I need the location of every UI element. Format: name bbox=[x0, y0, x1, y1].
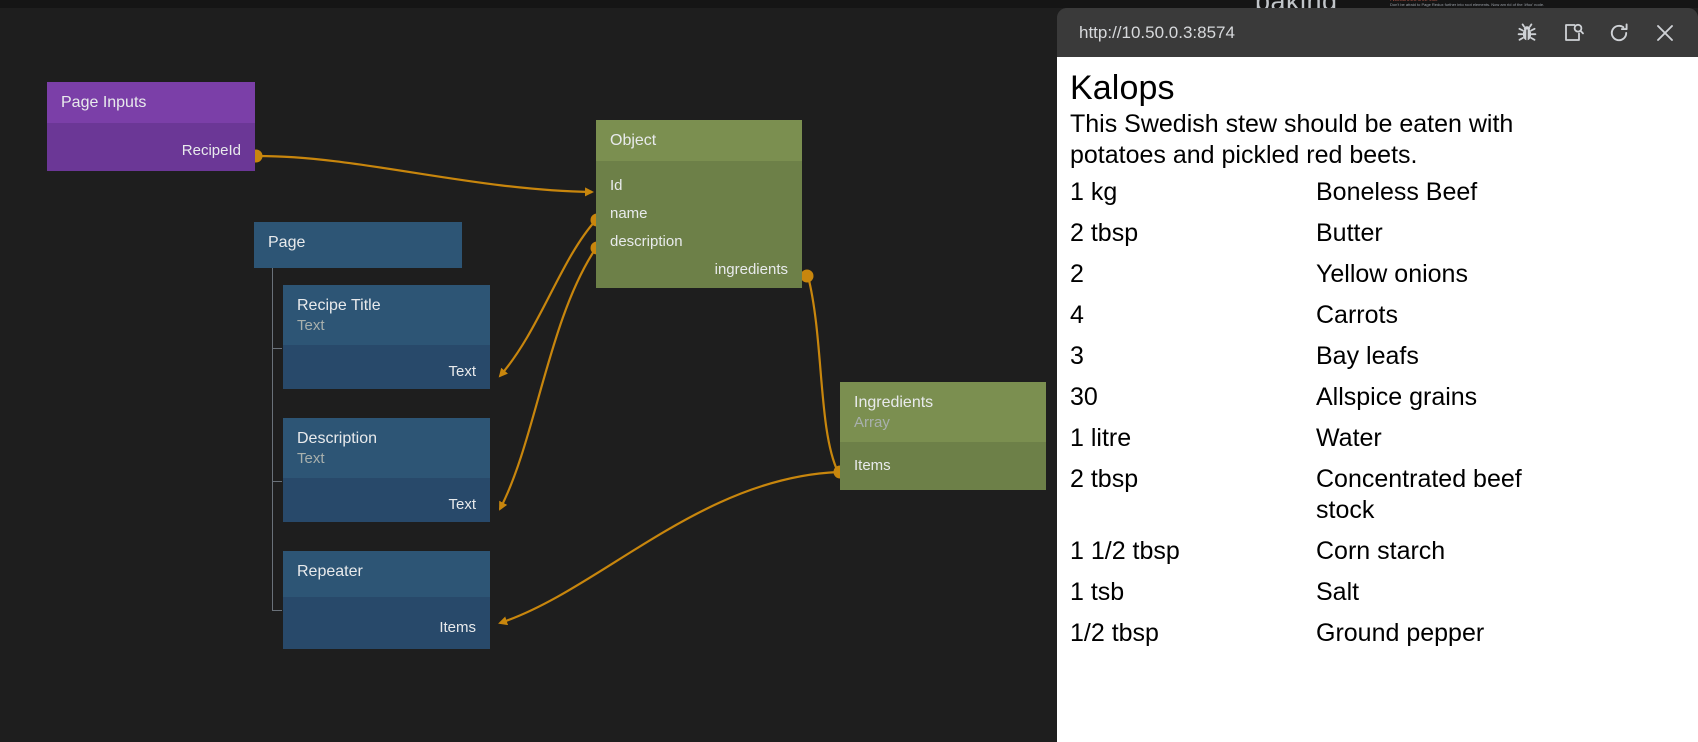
app-root: baking • Without a link to the '#foo' Do… bbox=[0, 0, 1698, 742]
url-display[interactable]: http://10.50.0.3:8574 bbox=[1079, 23, 1504, 43]
node-description[interactable]: Description Text Text bbox=[283, 418, 490, 522]
node-page-inputs-header: Page Inputs bbox=[47, 82, 255, 123]
tree-tick-repeater bbox=[272, 610, 282, 611]
node-ingredients-body: Items bbox=[840, 442, 1046, 490]
port-label: Items bbox=[854, 457, 891, 474]
node-page-inputs-body: RecipeId bbox=[47, 123, 255, 171]
node-subtitle: Text bbox=[297, 316, 476, 335]
inspect-button[interactable] bbox=[1550, 10, 1596, 56]
tree-spine bbox=[272, 268, 273, 610]
ingredient-name: Water bbox=[1316, 418, 1525, 459]
ingredient-quantity: 1 tsb bbox=[1070, 572, 1316, 613]
node-description-body: Text bbox=[283, 478, 490, 522]
node-title: Page bbox=[268, 234, 305, 251]
tree-tick-description bbox=[272, 481, 282, 482]
ingredient-name: Allspice grains bbox=[1316, 377, 1525, 418]
port-name[interactable]: name bbox=[596, 200, 802, 228]
page-search-icon bbox=[1561, 21, 1585, 45]
port-id[interactable]: Id bbox=[596, 172, 802, 200]
ingredient-quantity: 2 tbsp bbox=[1070, 459, 1316, 531]
table-row: 1 1/2 tbsp Corn starch bbox=[1070, 531, 1525, 572]
node-ingredients-header: Ingredients Array bbox=[840, 382, 1046, 442]
table-row: 1 tsb Salt bbox=[1070, 572, 1525, 613]
table-row: 4 Carrots bbox=[1070, 295, 1525, 336]
reload-button[interactable] bbox=[1596, 10, 1642, 56]
node-title: Ingredients bbox=[854, 394, 933, 411]
ingredient-name: Salt bbox=[1316, 572, 1525, 613]
table-row: 2 tbsp Concentrated beef stock bbox=[1070, 459, 1525, 531]
ingredient-quantity: 4 bbox=[1070, 295, 1316, 336]
node-repeater-body: Items bbox=[283, 597, 490, 649]
port-items-repeater[interactable]: Items bbox=[283, 597, 490, 642]
node-title: Object bbox=[610, 132, 656, 149]
node-title: Page Inputs bbox=[61, 94, 146, 111]
ingredient-quantity: 30 bbox=[1070, 377, 1316, 418]
port-label: ingredients bbox=[715, 261, 788, 278]
ingredient-quantity: 1 kg bbox=[1070, 172, 1316, 213]
port-recipeid[interactable]: RecipeId bbox=[47, 123, 255, 165]
tree-tick-recipe-title bbox=[272, 348, 282, 349]
ingredient-name: Yellow onions bbox=[1316, 254, 1525, 295]
ingredient-name: Butter bbox=[1316, 213, 1525, 254]
port-label: Text bbox=[448, 496, 476, 513]
port-ingredients[interactable]: ingredients bbox=[596, 256, 802, 284]
ingredient-name: Ground pepper bbox=[1316, 613, 1525, 654]
browser-toolbar: http://10.50.0.3:8574 bbox=[1057, 8, 1698, 57]
port-description[interactable]: description bbox=[596, 228, 802, 256]
table-row: 2 tbsp Butter bbox=[1070, 213, 1525, 254]
node-recipe-title[interactable]: Recipe Title Text Text bbox=[283, 285, 490, 389]
ingredient-quantity: 2 tbsp bbox=[1070, 213, 1316, 254]
port-label: name bbox=[610, 205, 648, 222]
port-label: RecipeId bbox=[182, 142, 241, 159]
ingredient-quantity: 1 1/2 tbsp bbox=[1070, 531, 1316, 572]
table-row: 1 kg Boneless Beef bbox=[1070, 172, 1525, 213]
node-object-header: Object bbox=[596, 120, 802, 161]
ingredient-name: Bay leafs bbox=[1316, 336, 1525, 377]
port-label: Items bbox=[439, 619, 476, 636]
node-repeater[interactable]: Repeater Items bbox=[283, 551, 490, 649]
node-object-body: Id name description ingredients bbox=[596, 161, 802, 288]
port-dot-ingredients bbox=[801, 270, 814, 283]
ingredient-name: Carrots bbox=[1316, 295, 1525, 336]
ingredients-table-body: 1 kg Boneless Beef 2 tbsp Butter 2 Yello… bbox=[1070, 172, 1525, 654]
ingredient-name: Boneless Beef bbox=[1316, 172, 1525, 213]
reload-icon bbox=[1607, 21, 1631, 45]
node-subtitle: Array bbox=[854, 413, 1032, 432]
table-row: 1 litre Water bbox=[1070, 418, 1525, 459]
table-row: 30 Allspice grains bbox=[1070, 377, 1525, 418]
ingredient-name: Concentrated beef stock bbox=[1316, 459, 1525, 531]
table-row: 1/2 tbsp Ground pepper bbox=[1070, 613, 1525, 654]
recipe-description: This Swedish stew should be eaten with p… bbox=[1070, 109, 1532, 171]
recipe-page: Kalops This Swedish stew should be eaten… bbox=[1057, 57, 1698, 742]
table-row: 2 Yellow onions bbox=[1070, 254, 1525, 295]
node-recipe-title-header: Recipe Title Text bbox=[283, 285, 490, 345]
table-row: 3 Bay leafs bbox=[1070, 336, 1525, 377]
port-label: Id bbox=[610, 177, 623, 194]
recipe-title: Kalops bbox=[1070, 67, 1698, 109]
port-items-ingredients[interactable]: Items bbox=[840, 442, 1046, 480]
node-ingredients[interactable]: Ingredients Array Items bbox=[840, 382, 1046, 490]
node-repeater-header: Repeater bbox=[283, 551, 490, 597]
bug-icon bbox=[1515, 21, 1539, 45]
ingredient-quantity: 2 bbox=[1070, 254, 1316, 295]
ingredient-name: Corn starch bbox=[1316, 531, 1525, 572]
node-description-header: Description Text bbox=[283, 418, 490, 478]
port-label: Text bbox=[448, 363, 476, 380]
debug-button[interactable] bbox=[1504, 10, 1550, 56]
ingredients-table: 1 kg Boneless Beef 2 tbsp Butter 2 Yello… bbox=[1070, 172, 1525, 654]
ingredient-quantity: 1 litre bbox=[1070, 418, 1316, 459]
node-page-inputs[interactable]: Page Inputs RecipeId bbox=[47, 82, 255, 171]
node-title: Recipe Title bbox=[297, 297, 381, 314]
port-text-description[interactable]: Text bbox=[283, 478, 490, 519]
port-label: description bbox=[610, 233, 683, 250]
ingredient-quantity: 1/2 tbsp bbox=[1070, 613, 1316, 654]
node-page[interactable]: Page bbox=[254, 222, 462, 268]
node-title: Description bbox=[297, 430, 377, 447]
node-page-header: Page bbox=[254, 222, 462, 268]
node-subtitle: Text bbox=[297, 449, 476, 468]
node-object[interactable]: Object Id name description ingredients bbox=[596, 120, 802, 288]
browser-preview-panel: http://10.50.0.3:8574 bbox=[1057, 8, 1698, 742]
ingredient-quantity: 3 bbox=[1070, 336, 1316, 377]
close-icon bbox=[1653, 21, 1677, 45]
node-recipe-title-body: Text bbox=[283, 345, 490, 389]
close-button[interactable] bbox=[1642, 10, 1688, 56]
port-text-recipe-title[interactable]: Text bbox=[283, 345, 490, 386]
node-title: Repeater bbox=[297, 563, 363, 580]
